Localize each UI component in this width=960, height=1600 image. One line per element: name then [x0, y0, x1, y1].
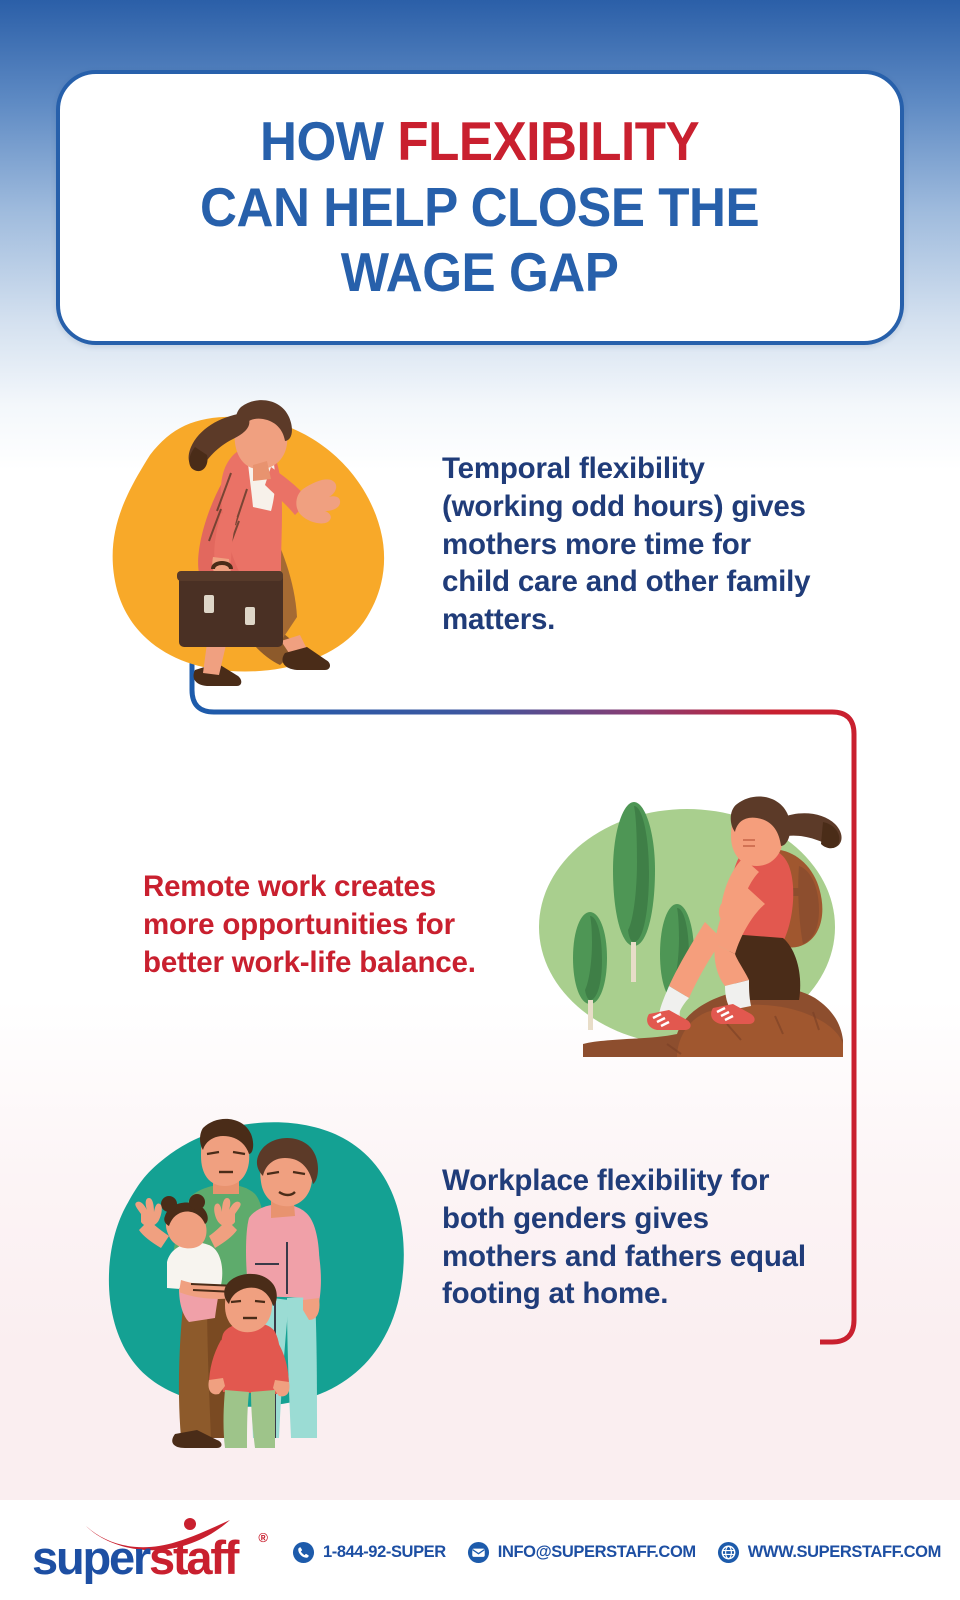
email-icon [467, 1541, 490, 1564]
logo-wordmark: superstaff [32, 1534, 237, 1581]
section-remote-work-illustration [527, 762, 847, 1057]
title-line3: WAGE GAP [341, 241, 619, 303]
logo-word-super: super [32, 1531, 149, 1584]
logo-word-staff: staff [149, 1531, 237, 1584]
woman-with-briefcase-illustration [95, 385, 405, 705]
footer: superstaff ® 1-844-92-SUPER INFO@SUPERST… [0, 1505, 960, 1600]
footer-contacts: 1-844-92-SUPER INFO@SUPERSTAFF.COM WWW.S… [292, 1541, 941, 1564]
infographic-poster: HOW FLEXIBILITY CAN HELP CLOSE THE WAGE … [0, 0, 960, 1600]
section-workplace-flexibility-text: Workplace flexibility for both genders g… [442, 1162, 812, 1313]
section-remote-work-text: Remote work creates more opportunities f… [143, 868, 503, 981]
superstaff-logo[interactable]: superstaff ® [32, 1522, 262, 1584]
title-line1-highlight: FLEXIBILITY [398, 110, 700, 172]
title-line1-prefix: HOW [260, 110, 397, 172]
section-workplace-flexibility-illustration [95, 1098, 435, 1448]
contact-email-label: INFO@SUPERSTAFF.COM [498, 1543, 696, 1562]
family-of-four-illustration [95, 1098, 435, 1448]
contact-phone[interactable]: 1-844-92-SUPER [292, 1541, 446, 1564]
contact-website[interactable]: WWW.SUPERSTAFF.COM [717, 1541, 941, 1564]
globe-icon [717, 1541, 740, 1564]
title-card: HOW FLEXIBILITY CAN HELP CLOSE THE WAGE … [56, 70, 904, 345]
page-title: HOW FLEXIBILITY CAN HELP CLOSE THE WAGE … [176, 109, 783, 305]
section-temporal-flexibility-illustration [95, 385, 405, 705]
contact-phone-label: 1-844-92-SUPER [323, 1543, 446, 1562]
logo-registered-mark: ® [258, 1530, 268, 1545]
contact-email[interactable]: INFO@SUPERSTAFF.COM [467, 1541, 696, 1564]
title-line2: CAN HELP CLOSE THE [200, 176, 759, 238]
phone-icon [292, 1541, 315, 1564]
contact-website-label: WWW.SUPERSTAFF.COM [748, 1543, 941, 1562]
woman-sitting-on-rock-illustration [527, 762, 847, 1057]
section-temporal-flexibility-text: Temporal flexibility (working odd hours)… [442, 450, 822, 639]
